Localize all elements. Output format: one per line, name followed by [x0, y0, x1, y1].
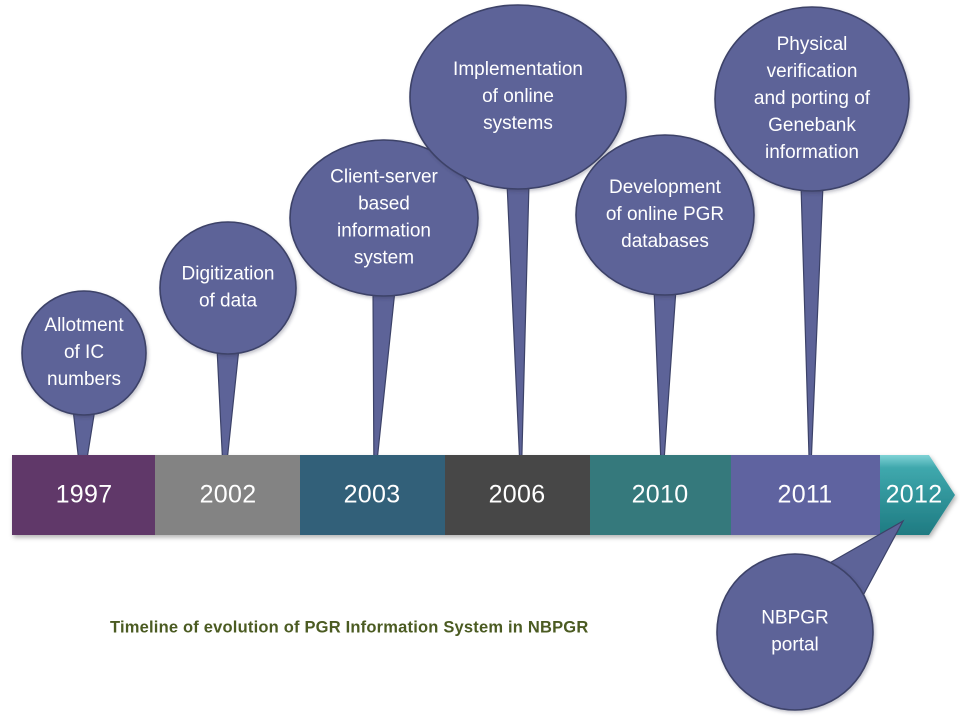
timeline-year-label-2012: 2012 — [886, 481, 943, 509]
callout-text-line: of data — [199, 291, 258, 312]
callout-implementation-of-online-systems[interactable]: Implementationof onlinesystems — [410, 5, 626, 189]
callout-text-line: and porting of — [754, 88, 871, 109]
callout-text-line: Development — [609, 177, 722, 198]
callout-text-line: Digitization — [182, 264, 275, 285]
figure-caption: Timeline of evolution of PGR Information… — [110, 618, 588, 636]
timeline-year-label-2002: 2002 — [200, 481, 257, 509]
callout-text-line: system — [354, 247, 414, 268]
callout-text-line: Allotment — [44, 315, 124, 336]
callout-development-of-online-pgr-databases[interactable]: Developmentof online PGRdatabases — [576, 135, 754, 295]
callout-bubble-shape — [717, 554, 873, 710]
callout-text-line: Client-server — [330, 167, 438, 188]
callout-text-line: databases — [621, 231, 709, 252]
callout-tail-implementation-of-online-systems — [507, 183, 529, 490]
timeline-figure: 1997200220032006201020112012 Allotmentof… — [0, 0, 960, 720]
callout-text-line: information — [337, 221, 431, 242]
callout-text-line: information — [765, 142, 859, 163]
callout-text-line: based — [358, 194, 410, 215]
callout-text-line: of IC — [64, 342, 104, 363]
nbpgr-portal-callout: NBPGRportal — [717, 521, 903, 710]
timeline-year-label-2006: 2006 — [489, 481, 546, 509]
callout-allotment-of-ic-numbers[interactable]: Allotmentof ICnumbers — [22, 291, 146, 415]
callout-text-line: systems — [483, 113, 553, 134]
callout-text-line: portal — [771, 635, 819, 656]
callout-text-line: Implementation — [453, 59, 583, 80]
callout-text-line: Physical — [777, 34, 848, 55]
timeline-year-label-2011: 2011 — [778, 481, 833, 509]
callout-text-line: of online — [482, 86, 554, 107]
callout-text-line: of online PGR — [606, 204, 724, 225]
callout-text-line: Genebank — [768, 115, 856, 136]
callout-bubble-shape — [160, 222, 296, 354]
callout-text-line: verification — [767, 61, 858, 82]
timeline-callouts: Allotmentof ICnumbersDigitizationof data… — [22, 5, 909, 415]
callout-text-line: NBPGR — [761, 608, 829, 629]
timeline-year-label-1997: 1997 — [56, 481, 113, 509]
callout-text-line: numbers — [47, 369, 121, 390]
timeline-year-label-2003: 2003 — [344, 481, 401, 509]
callout-physical-verification-and-porting-of-genebank-information[interactable]: Physicalverificationand porting ofGeneba… — [715, 7, 909, 191]
timeline-year-label-2010: 2010 — [632, 481, 689, 509]
timeline-canvas: 1997200220032006201020112012 Allotmentof… — [0, 0, 960, 720]
callout-tail-physical-verification-and-porting-of-genebank-information — [801, 185, 823, 490]
callout-nbpgr-portal[interactable]: NBPGRportal — [717, 554, 873, 710]
callout-digitization-of-data[interactable]: Digitizationof data — [160, 222, 296, 354]
